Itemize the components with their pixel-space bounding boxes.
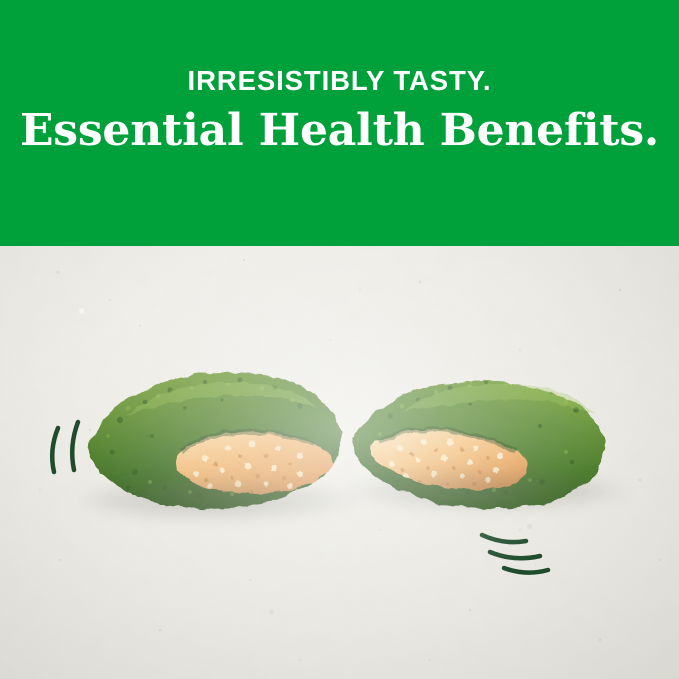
header-banner: IRRESISTIBLY TASTY. Essential Health Ben… <box>0 0 679 246</box>
left-kibble-shadow <box>78 478 358 522</box>
kibble-product-group <box>0 230 679 679</box>
banner-headline-large: Essential Health Benefits. <box>20 106 659 157</box>
product-marketing-image: IRRESISTIBLY TASTY. Essential Health Ben… <box>0 0 679 679</box>
motion-marks-right <box>482 535 548 573</box>
motion-marks-left <box>52 422 78 472</box>
banner-text-group: IRRESISTIBLY TASTY. Essential Health Ben… <box>0 0 679 230</box>
right-kibble-shadow <box>345 470 625 512</box>
product-photo-area <box>0 230 679 679</box>
banner-headline-small: IRRESISTIBLY TASTY. <box>188 66 492 96</box>
kibble-illustration <box>0 230 679 679</box>
